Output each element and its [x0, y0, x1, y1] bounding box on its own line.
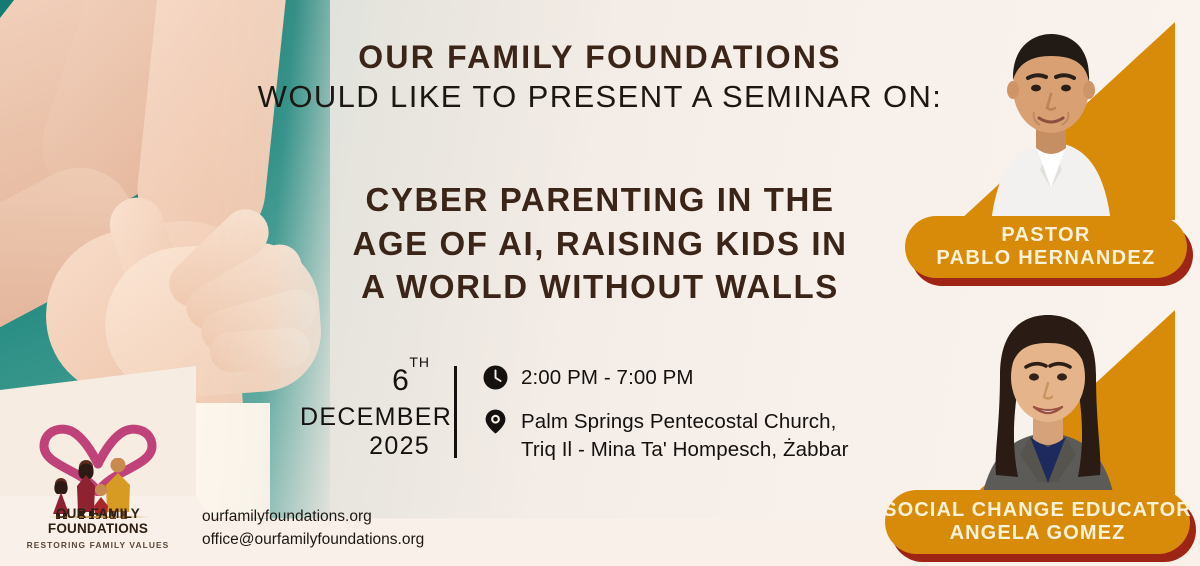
speaker-2-photo	[950, 305, 1146, 510]
speaker-2-role: SOCIAL CHANGE EDUCATOR	[883, 499, 1192, 522]
logo-organization-name: OUR FAMILY FOUNDATIONS	[20, 506, 176, 536]
event-details: 6TH DECEMBER 2025 2:00 PM - 7:00 PM	[300, 362, 920, 472]
event-venue-row: Palm Springs Pentecostal Church, Triq Il…	[483, 408, 920, 463]
speaker-2-name: ANGELA GOMEZ	[950, 522, 1126, 545]
day-suffix: TH	[409, 354, 430, 370]
venue-line-1: Palm Springs Pentecostal Church,	[521, 408, 849, 435]
speaker-2-badge: SOCIAL CHANGE EDUCATOR ANGELA GOMEZ	[885, 490, 1190, 554]
event-day: 6TH	[300, 366, 430, 396]
event-year: 2025	[300, 433, 430, 461]
vertical-divider	[454, 366, 457, 458]
event-poster: OUR FAMILY FOUNDATIONS RESTORING FAMILY …	[0, 0, 1200, 566]
speaker-1-badge: PASTOR PABLO HERNANDEZ	[905, 216, 1187, 278]
header-line-2: WOULD LIKE TO PRESENT A SEMINAR ON:	[200, 78, 1000, 115]
event-info: 2:00 PM - 7:00 PM Palm Springs Pentecost…	[483, 362, 920, 463]
organization-logo: OUR FAMILY FOUNDATIONS RESTORING FAMILY …	[20, 420, 176, 556]
day-number: 6	[392, 364, 409, 397]
contact-info: ourfamilyfoundations.org office@ourfamil…	[202, 506, 424, 552]
finger-shape	[209, 327, 312, 374]
event-month: DECEMBER	[300, 402, 430, 433]
contact-email[interactable]: office@ourfamilyfoundations.org	[202, 529, 424, 552]
header-line-1: OUR FAMILY FOUNDATIONS	[200, 40, 1000, 76]
venue-line-2: Triq Il - Mina Ta' Hompesch, Żabbar	[521, 436, 849, 463]
seminar-title: CYBER PARENTING IN THE AGE OF AI, RAISIN…	[195, 178, 1005, 309]
speaker-1-photo	[958, 20, 1144, 232]
title-line-2: AGE OF AI, RAISING KIDS IN	[195, 222, 1005, 266]
title-line-1: CYBER PARENTING IN THE	[195, 178, 1005, 222]
logo-tagline: RESTORING FAMILY VALUES	[20, 540, 176, 550]
speaker-1-name: PABLO HERNANDEZ	[936, 247, 1155, 270]
title-line-3: A WORLD WITHOUT WALLS	[195, 265, 1005, 309]
header-block: OUR FAMILY FOUNDATIONS WOULD LIKE TO PRE…	[200, 40, 1000, 115]
event-venue: Palm Springs Pentecostal Church, Triq Il…	[521, 408, 849, 463]
clock-icon	[483, 365, 508, 390]
map-pin-icon	[483, 409, 508, 434]
contact-website[interactable]: ourfamilyfoundations.org	[202, 506, 424, 529]
event-time: 2:00 PM - 7:00 PM	[521, 364, 694, 391]
event-date: 6TH DECEMBER 2025	[300, 362, 430, 461]
event-time-row: 2:00 PM - 7:00 PM	[483, 364, 920, 391]
speaker-1-role: PASTOR	[1001, 224, 1090, 247]
